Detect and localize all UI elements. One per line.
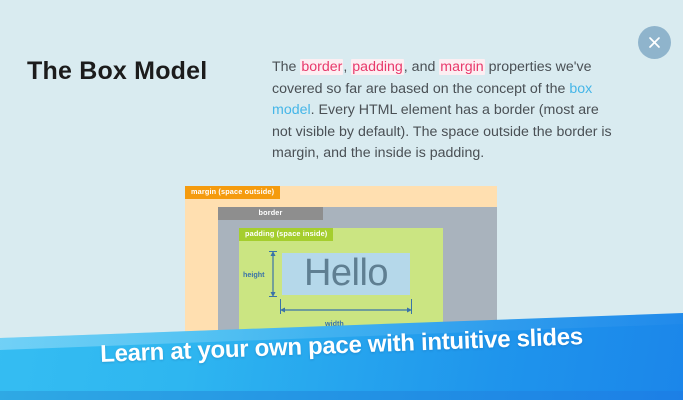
body-text: The <box>272 59 300 75</box>
close-button[interactable] <box>638 26 671 59</box>
close-icon <box>638 26 671 59</box>
body-keyword: margin <box>439 59 484 75</box>
dimension-arrows <box>185 186 497 334</box>
box-model-diagram: Hello margin (space outside) border padd… <box>185 186 497 334</box>
promo-banner-bottom-strip <box>0 391 683 400</box>
slide-viewer: The Box Model The border, padding, and m… <box>0 0 683 400</box>
body-keyword: padding <box>351 59 404 75</box>
body-text: , and <box>404 59 440 75</box>
page-title: The Box Model <box>27 57 207 86</box>
slide-body-text: The border, padding, and margin properti… <box>272 57 622 165</box>
body-text: . Every HTML element has a border (most … <box>272 102 612 161</box>
height-dimension-label: height <box>243 270 265 279</box>
body-keyword: border <box>300 59 343 75</box>
